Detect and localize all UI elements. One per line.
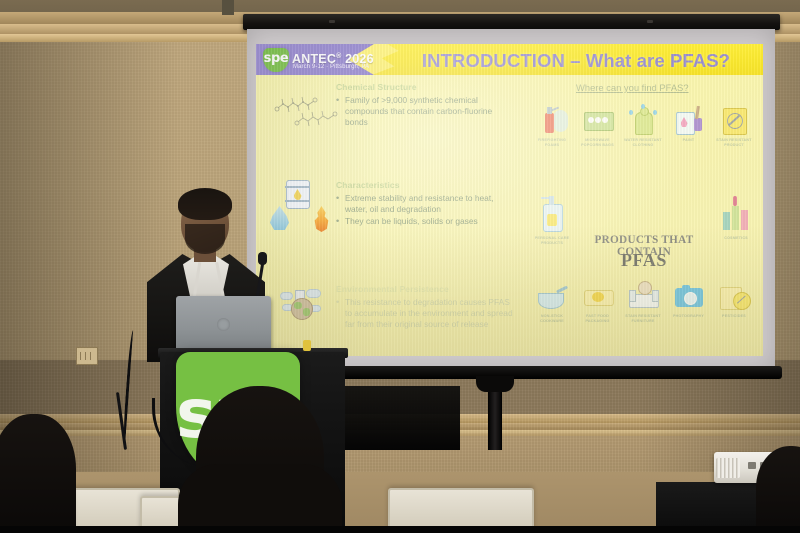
slide-left-column: Chemical Structure Family of >9,000 synt…: [268, 82, 518, 350]
cloud-shape: [306, 289, 321, 298]
product-icon-cell: PHOTOGRAPHY: [669, 280, 709, 323]
raincoat-icon: [627, 104, 659, 136]
oil-drop-shape: [294, 189, 302, 200]
projector-port: [748, 462, 756, 469]
icon-label: PHOTOGRAPHY: [669, 314, 709, 319]
section-bullets: Extreme stability and resistance to heat…: [336, 193, 514, 228]
product-icon-cell: PERSONAL CARE PRODUCTS: [532, 194, 572, 245]
section-bullets: Family of >9,000 synthetic chemical comp…: [336, 95, 514, 129]
audience-member: [196, 386, 324, 533]
popcorn-bag-icon: [582, 104, 614, 136]
product-icon-row-top: FIREFIGHTING FOAMS MICROWAVE POPCORN BAG…: [532, 104, 754, 147]
conference-dates: March 9-12 · Pittsburgh, PA: [293, 64, 369, 71]
center-heading-line2: PFAS: [574, 250, 714, 271]
icon-label: PERSONAL CARE PRODUCTS: [532, 236, 572, 245]
water-droplet-icon: [270, 206, 289, 230]
icon-label: STAIN RESISTANT FURNITURE: [623, 314, 663, 323]
product-icon-row-bottom: NON-STICK COOKWARE FAST FOOD PACKAGING: [532, 280, 754, 323]
soap-dispenser-icon: [535, 194, 569, 234]
conference-room-photo: spe ANTEC® 2026 March 9-12 · Pittsburgh,…: [0, 0, 800, 533]
product-icon-cell: COSMETICS: [716, 194, 756, 241]
slide-title: INTRODUCTION – What are PFAS?: [396, 47, 756, 74]
projection-screen: spe ANTEC® 2026 March 9-12 · Pittsburgh,…: [243, 14, 780, 374]
product-icon-cell: STAIN RESISTANT FURNITURE: [623, 280, 663, 323]
polluted-earth-icon: [280, 286, 320, 320]
fire-extinguisher-icon: [536, 104, 568, 136]
section-bullets: This resistance to degradation causes PF…: [336, 297, 514, 331]
product-icon-cell: FIREFIGHTING FOAMS: [532, 104, 572, 147]
ceiling-mount: [222, 0, 234, 15]
wall-outlet: [76, 347, 98, 365]
projector-vents: [716, 458, 740, 478]
registered-mark: ®: [336, 53, 341, 60]
where-find-pfas-question: Where can you find PFAS?: [576, 82, 689, 93]
icon-label: FIREFIGHTING FOAMS: [532, 138, 572, 147]
pesticide-icon: [718, 280, 750, 312]
molecule-diagram-icon: [294, 100, 340, 130]
icon-label: MICROWAVE POPCORN BAGS: [578, 138, 618, 147]
food-wrapper-icon: [582, 280, 614, 312]
section-heading: Chemical Structure: [336, 82, 417, 92]
screen-tripod-leg: [488, 376, 502, 450]
product-icon-cell: STAIN RESISTANT PRODUCT: [714, 104, 754, 147]
presenter-laptop[interactable]: [176, 296, 271, 352]
oil-barrel-icon: [286, 180, 310, 209]
presentation-slide: spe ANTEC® 2026 March 9-12 · Pittsburgh,…: [256, 44, 763, 356]
product-icon-cell: MICROWAVE POPCORN BAGS: [578, 104, 618, 147]
slide-right-column: Where can you find PFAS? FIREFIGHTING FO…: [532, 82, 754, 350]
audience-member: [0, 414, 76, 533]
frying-pan-icon: [536, 280, 568, 312]
product-icon-cell: NON-STICK COOKWARE: [532, 280, 572, 323]
bullet-item: They can be liquids, solids or gases: [336, 216, 514, 227]
icon-label: STAIN RESISTANT PRODUCT: [714, 138, 754, 147]
section-heading: Characteristics: [336, 180, 400, 190]
stain-resistant-can-icon: [718, 104, 750, 136]
product-icon-cell: PESTICIDES: [714, 280, 754, 323]
photo-bottom-edge: [0, 526, 800, 533]
globe-shape: [291, 298, 313, 320]
camera-icon: [673, 280, 705, 312]
bullet-item: This resistance to degradation causes PF…: [336, 297, 514, 331]
paint-can-icon: [673, 104, 705, 136]
sofa-icon: [627, 280, 659, 312]
flame-icon: [312, 206, 331, 232]
bullet-item: Extreme stability and resistance to heat…: [336, 193, 514, 215]
icon-label: NON-STICK COOKWARE: [532, 314, 572, 323]
icon-label: PAINT: [669, 138, 709, 143]
product-icon-cell: WATER RESISTANT CLOTHING: [623, 104, 663, 147]
cloud-shape: [280, 292, 293, 300]
presenter-beard: [185, 224, 225, 254]
cable-clip: [303, 340, 311, 351]
product-icon-cell: PAINT: [669, 104, 709, 147]
bullet-item: Family of >9,000 synthetic chemical comp…: [336, 95, 514, 129]
icon-label: FAST FOOD PACKAGING: [578, 314, 618, 323]
spe-logo-text: spe: [263, 51, 289, 66]
icon-label: WATER RESISTANT CLOTHING: [623, 138, 663, 147]
shadow-behind-podium: [330, 386, 460, 450]
presenter-hair: [178, 188, 232, 220]
icon-label: PESTICIDES: [714, 314, 754, 319]
icon-label: COSMETICS: [716, 236, 756, 241]
lipstick-icon: [719, 194, 753, 234]
product-icon-cell: FAST FOOD PACKAGING: [578, 280, 618, 323]
section-heading: Environmental Persistence: [336, 284, 449, 294]
screen-housing: [243, 14, 780, 30]
